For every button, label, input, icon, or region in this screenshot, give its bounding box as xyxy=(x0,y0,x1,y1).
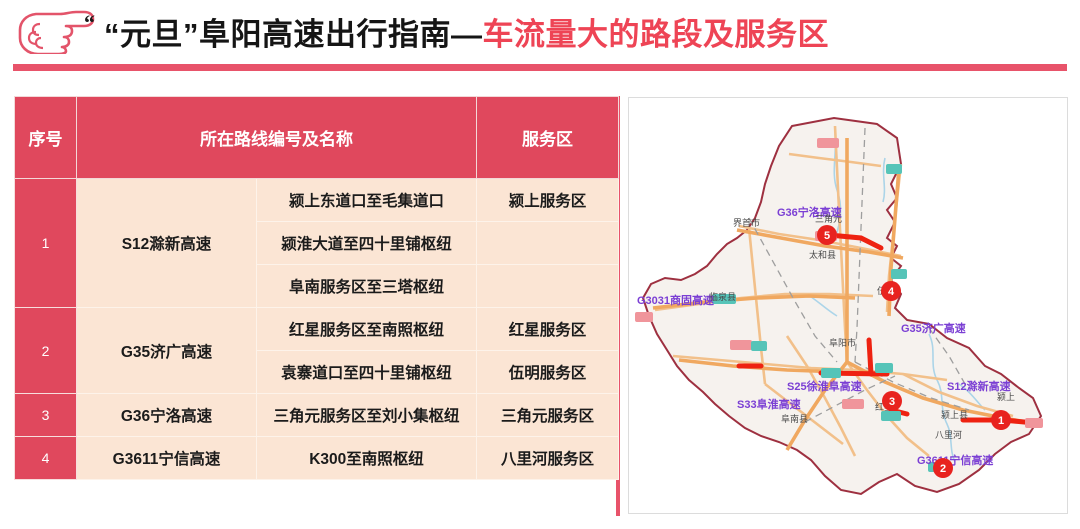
cell-service-area xyxy=(477,222,619,265)
highway-table-container: 序号 所在路线编号及名称 服务区 1 S12滁新高速 颍上东道口至毛集道口 颍上… xyxy=(14,96,618,516)
column-header-route: 所在路线编号及名称 xyxy=(77,97,477,179)
cell-index: 3 xyxy=(15,394,77,437)
table-row: 3 G36宁洛高速 三角元服务区至刘小集枢纽 三角元服务区 xyxy=(15,394,619,437)
page-title-highlight: 车流量大的路段及服务区 xyxy=(483,9,830,54)
map-marker-5[interactable]: 5 xyxy=(817,225,837,245)
svg-text:G3611宁信高速: G3611宁信高速 xyxy=(917,453,993,467)
column-header-service: 服务区 xyxy=(477,97,619,179)
cell-index: 4 xyxy=(15,437,77,480)
cell-segment: 三角元服务区至刘小集枢纽 xyxy=(257,394,477,437)
page-title-primary: “元旦”阜阳高速出行指南— xyxy=(104,9,483,54)
svg-text:临泉县: 临泉县 xyxy=(709,291,736,302)
page-title: “元旦”阜阳高速出行指南— 车流量大的路段及服务区 xyxy=(104,8,829,54)
cell-index: 2 xyxy=(15,308,77,394)
svg-text:太和县: 太和县 xyxy=(809,249,836,260)
svg-text:3: 3 xyxy=(889,396,895,408)
cell-segment: 红星服务区至南照枢纽 xyxy=(257,308,477,351)
table-header-row: 序号 所在路线编号及名称 服务区 xyxy=(15,97,619,179)
cell-segment: 颍上东道口至毛集道口 xyxy=(257,179,477,222)
table-row: 4 G3611宁信高速 K300至南照枢纽 八里河服务区 xyxy=(15,437,619,480)
svg-text:5: 5 xyxy=(824,230,830,242)
highway-table: 序号 所在路线编号及名称 服务区 1 S12滁新高速 颍上东道口至毛集道口 颍上… xyxy=(14,96,619,480)
cell-service-area: 伍明服务区 xyxy=(477,351,619,394)
svg-text:G3031商固高速: G3031商固高速 xyxy=(637,293,714,307)
map-marker-4[interactable]: 4 xyxy=(881,281,901,301)
header-divider xyxy=(13,64,1067,71)
svg-text:S33阜淮高速: S33阜淮高速 xyxy=(737,397,801,411)
cell-service-area: 三角元服务区 xyxy=(477,394,619,437)
svg-text:阜南县: 阜南县 xyxy=(781,413,808,424)
pointing-hand-icon: “ xyxy=(14,8,98,54)
cell-service-area: 八里河服务区 xyxy=(477,437,619,480)
cell-service-area xyxy=(477,265,619,308)
svg-text:2: 2 xyxy=(940,463,946,475)
table-row: 1 S12滁新高速 颍上东道口至毛集道口 颍上服务区 xyxy=(15,179,619,222)
cell-route: G35济广高速 xyxy=(77,308,257,394)
table-body: 1 S12滁新高速 颍上东道口至毛集道口 颍上服务区 颍淮大道至四十里铺枢纽 阜… xyxy=(15,179,619,480)
svg-text:八里河: 八里河 xyxy=(935,429,962,440)
svg-text:颍上县: 颍上县 xyxy=(941,409,968,420)
page-header: “ “元旦”阜阳高速出行指南— 车流量大的路段及服务区 xyxy=(0,0,1080,62)
svg-text:“: “ xyxy=(84,10,95,35)
svg-text:阜阳市: 阜阳市 xyxy=(829,337,856,348)
svg-text:G35济广高速: G35济广高速 xyxy=(901,321,966,335)
table-row: 2 G35济广高速 红星服务区至南照枢纽 红星服务区 xyxy=(15,308,619,351)
cell-route: G36宁洛高速 xyxy=(77,394,257,437)
cell-index: 1 xyxy=(15,179,77,308)
fuyang-highway-map[interactable]: G36宁洛高速 G3031商固高速 S25徐淮阜高速 G35济广高速 S12滁新… xyxy=(628,97,1068,514)
svg-text:三角元: 三角元 xyxy=(815,213,842,224)
map-marker-3[interactable]: 3 xyxy=(882,391,902,411)
cell-segment: 阜南服务区至三塔枢纽 xyxy=(257,265,477,308)
svg-text:1: 1 xyxy=(998,415,1004,427)
cell-route: S12滁新高速 xyxy=(77,179,257,308)
column-header-index: 序号 xyxy=(15,97,77,179)
svg-text:界首市: 界首市 xyxy=(733,217,760,228)
cell-service-area: 红星服务区 xyxy=(477,308,619,351)
svg-text:4: 4 xyxy=(888,286,895,298)
svg-text:S12滁新高速: S12滁新高速 xyxy=(947,379,1011,393)
svg-text:颍上: 颍上 xyxy=(997,391,1015,402)
map-marker-2[interactable]: 2 xyxy=(933,458,953,478)
cell-segment: 袁寨道口至四十里铺枢纽 xyxy=(257,351,477,394)
svg-text:S25徐淮阜高速: S25徐淮阜高速 xyxy=(787,379,862,393)
cell-service-area: 颍上服务区 xyxy=(477,179,619,222)
cell-route: G3611宁信高速 xyxy=(77,437,257,480)
map-marker-1[interactable]: 1 xyxy=(991,410,1011,430)
cell-segment: 颍淮大道至四十里铺枢纽 xyxy=(257,222,477,265)
cell-segment: K300至南照枢纽 xyxy=(257,437,477,480)
page-root: “ “元旦”阜阳高速出行指南— 车流量大的路段及服务区 序号 所在路线编号及名称… xyxy=(0,0,1080,529)
